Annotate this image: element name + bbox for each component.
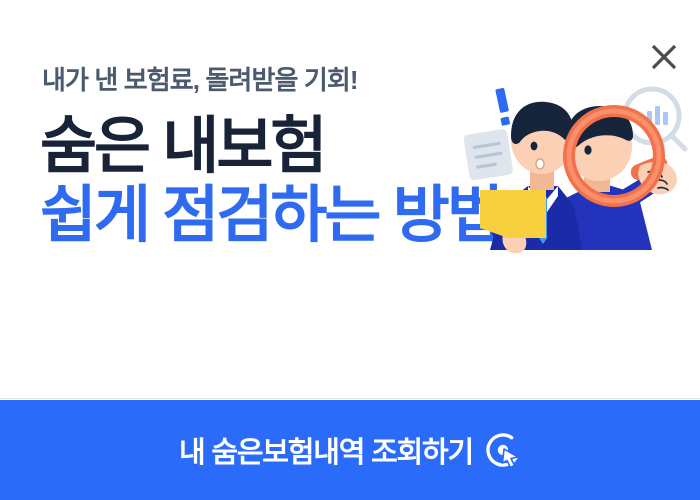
cta-divider bbox=[0, 398, 700, 399]
headline-line-1: 숨은 내보험 bbox=[40, 115, 660, 179]
insurance-promo-banner: 내가 낸 보험료, 돌려받을 기회! 숨은 내보험 쉽게 점검하는 방법 bbox=[0, 0, 700, 500]
cta-label: 내 숨은보험내역 조회하기 bbox=[179, 429, 473, 471]
headline-group: 내가 낸 보험료, 돌려받을 기회! 숨은 내보험 쉽게 점검하는 방법 bbox=[40, 64, 660, 248]
cta-button[interactable]: 내 숨은보험내역 조회하기 bbox=[0, 400, 700, 500]
target-cursor-icon bbox=[485, 432, 521, 468]
headline-line-2: 쉽게 점검하는 방법 bbox=[40, 184, 660, 248]
eyebrow-text: 내가 낸 보험료, 돌려받을 기회! bbox=[42, 64, 660, 97]
